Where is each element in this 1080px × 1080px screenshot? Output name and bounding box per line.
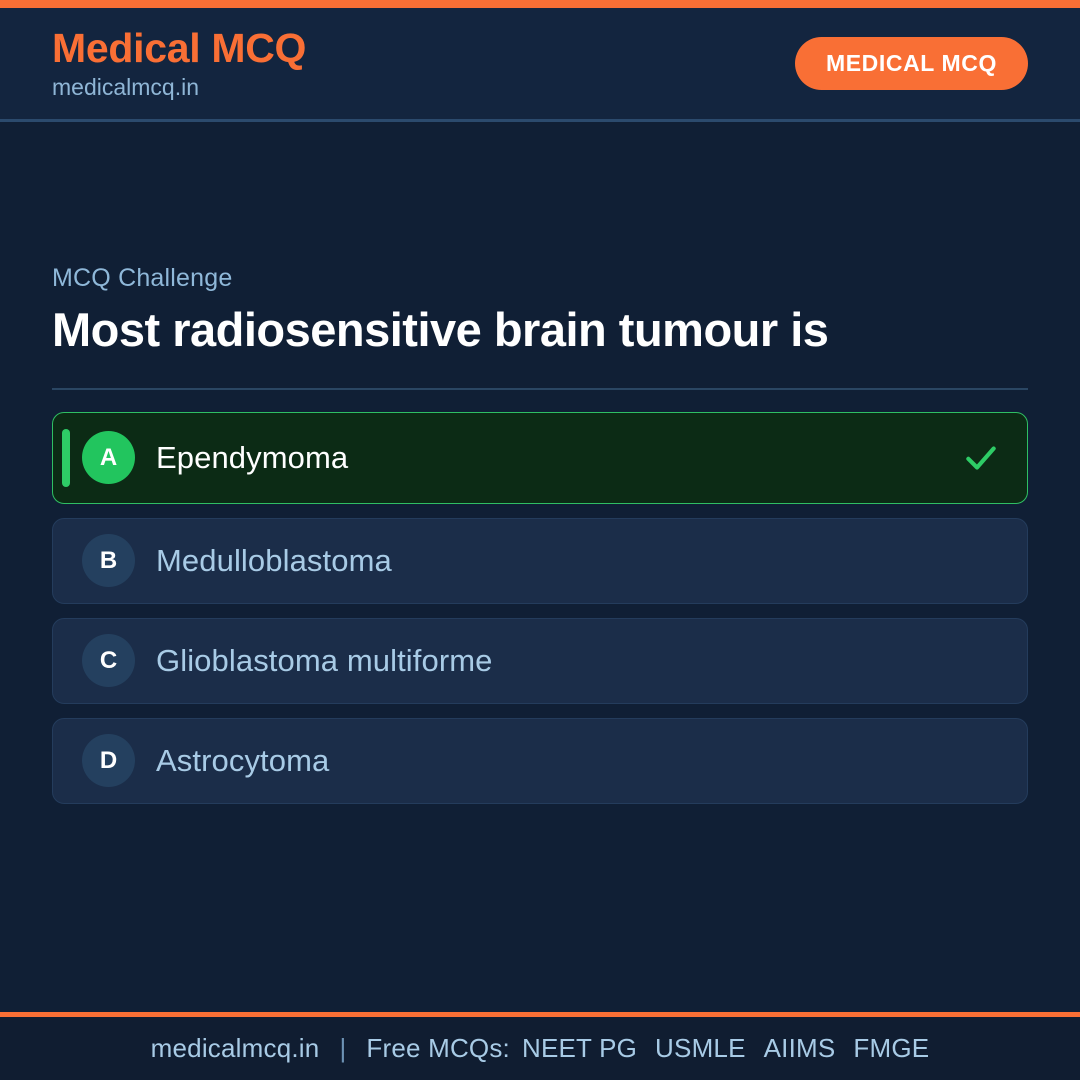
footer-tag-usmle[interactable]: USMLE <box>655 1033 746 1064</box>
option-a[interactable]: A Ependymoma <box>52 412 1028 504</box>
footer-tag-aiims[interactable]: AIIMS <box>764 1033 836 1064</box>
footer-tag-neet-pg[interactable]: NEET PG <box>522 1033 637 1064</box>
header-badge[interactable]: MEDICAL MCQ <box>795 37 1028 90</box>
page-footer: medicalmcq.in | Free MCQs: NEET PG USMLE… <box>0 1012 1080 1080</box>
brand-url: medicalmcq.in <box>52 76 306 99</box>
main-content: MCQ Challenge Most radiosensitive brain … <box>0 122 1080 1012</box>
kicker-label: MCQ Challenge <box>52 264 1028 293</box>
mcq-card: Medical MCQ medicalmcq.in MEDICAL MCQ MC… <box>0 0 1080 1080</box>
footer-tags: Free MCQs: NEET PG USMLE AIIMS FMGE <box>366 1033 929 1064</box>
option-a-letter: A <box>82 431 135 484</box>
brand: Medical MCQ medicalmcq.in <box>52 28 306 99</box>
question-text: Most radiosensitive brain tumour is <box>52 303 1028 358</box>
option-d-letter: D <box>82 734 135 787</box>
footer-tags-label: Free MCQs: <box>366 1033 510 1064</box>
option-b[interactable]: B Medulloblastoma <box>52 518 1028 604</box>
option-b-label: Medulloblastoma <box>156 543 1001 579</box>
option-a-label: Ependymoma <box>156 440 961 476</box>
footer-tag-fmge[interactable]: FMGE <box>853 1033 929 1064</box>
option-c[interactable]: C Glioblastoma multiforme <box>52 618 1028 704</box>
footer-separator: | <box>339 1033 346 1064</box>
top-accent-bar <box>0 0 1080 8</box>
footer-site[interactable]: medicalmcq.in <box>151 1033 320 1064</box>
options-list: A Ependymoma B Medulloblastoma C Gliob <box>52 412 1028 804</box>
option-c-label: Glioblastoma multiforme <box>156 643 1001 679</box>
option-d[interactable]: D Astrocytoma <box>52 718 1028 804</box>
question-divider <box>52 388 1028 390</box>
check-icon <box>961 438 1001 478</box>
option-b-letter: B <box>82 534 135 587</box>
brand-title: Medical MCQ <box>52 28 306 69</box>
page-header: Medical MCQ medicalmcq.in MEDICAL MCQ <box>0 8 1080 122</box>
option-c-letter: C <box>82 634 135 687</box>
option-d-label: Astrocytoma <box>156 743 1001 779</box>
